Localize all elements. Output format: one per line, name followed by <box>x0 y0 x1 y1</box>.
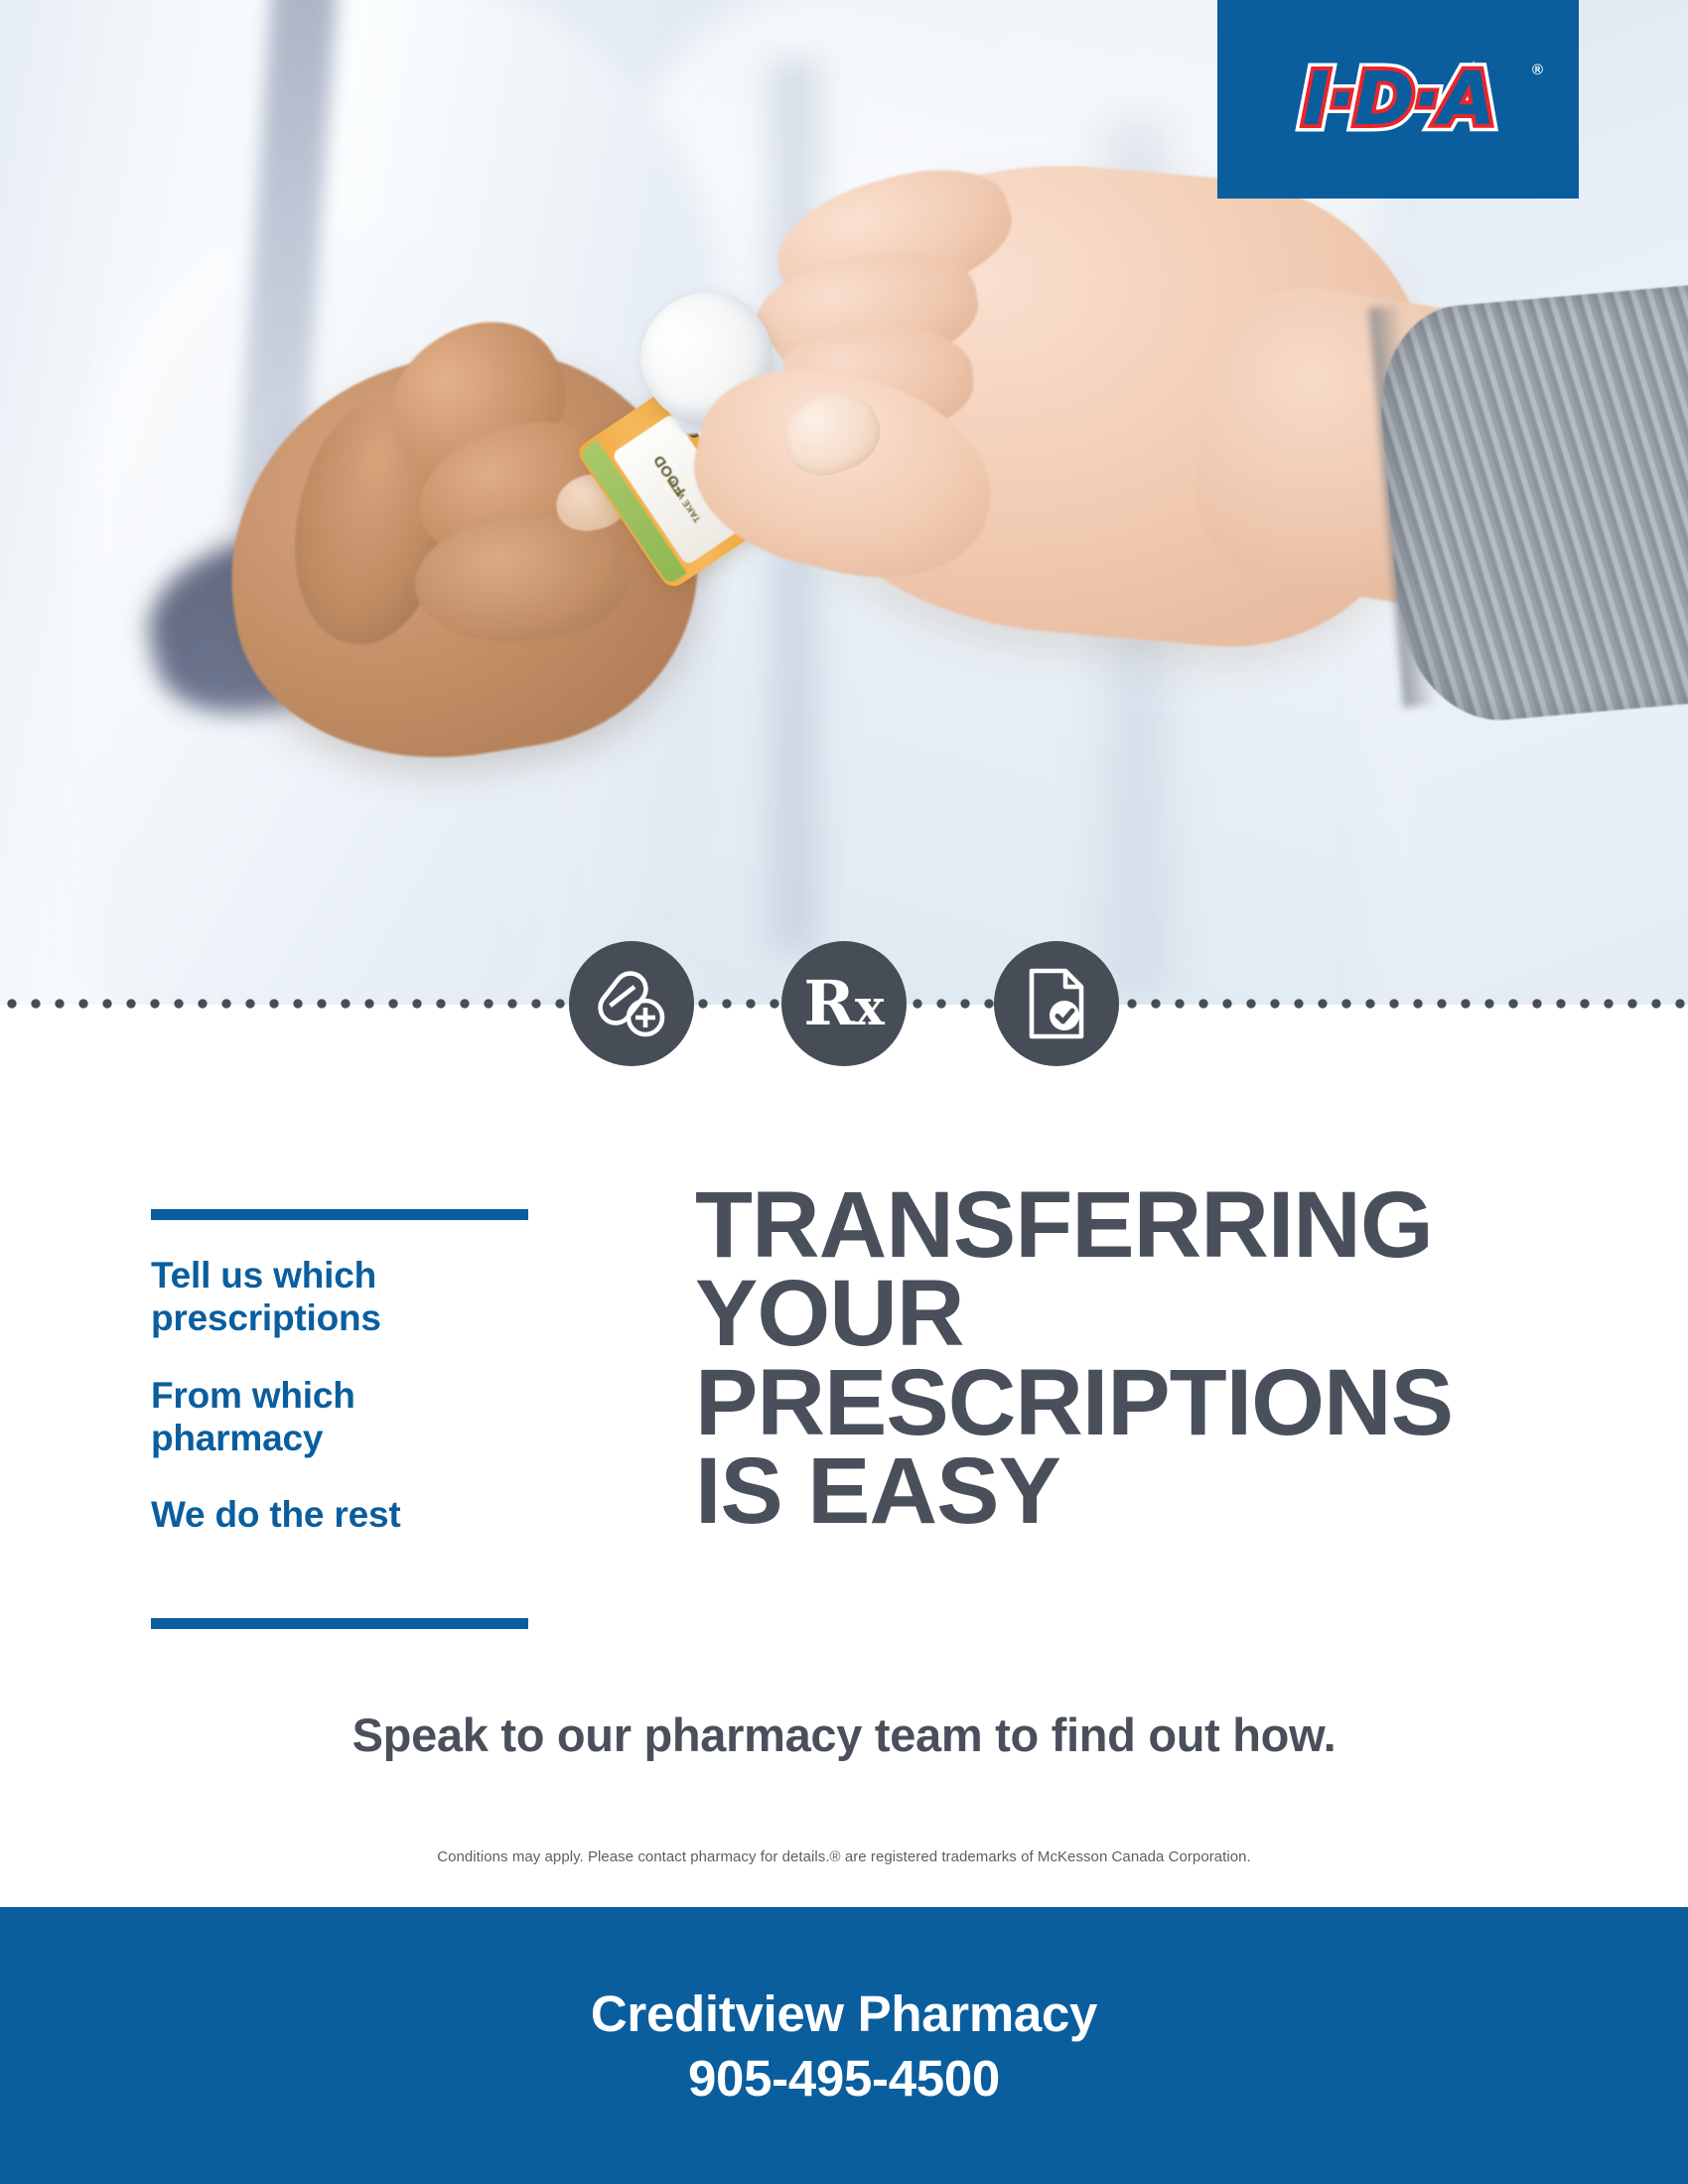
ida-logo[interactable]: I·D·A I·D·A ® <box>1217 0 1579 199</box>
steps-rule-top <box>151 1209 528 1220</box>
pharmacy-name: Creditview Pharmacy <box>591 1984 1097 2043</box>
step-item-3: We do the rest <box>151 1493 528 1536</box>
disclaimer: Conditions may apply. Please contact pha… <box>0 1848 1688 1865</box>
ida-logo-mark: I·D·A I·D·A ® <box>1249 52 1547 147</box>
registered-trademark-icon: ® <box>1532 62 1543 78</box>
pharmacy-phone[interactable]: 905-495-4500 <box>688 2049 1000 2108</box>
ida-logo-text: I·D·A <box>1249 52 1547 147</box>
headline-line-4: IS EASY <box>695 1447 1539 1536</box>
document-check-icon <box>994 941 1119 1066</box>
rx-icon: Rx <box>781 941 907 1066</box>
step-item-1: Tell us which prescriptions <box>151 1254 528 1340</box>
icon-row: Rx <box>0 941 1688 1066</box>
step-item-2: From which pharmacy <box>151 1374 528 1460</box>
footer-bar: Creditview Pharmacy 905-495-4500 <box>0 1907 1688 2184</box>
pills-plus-icon <box>569 941 694 1066</box>
customer-sweater-cuff <box>1372 284 1688 728</box>
rx-glyph: Rx <box>803 973 884 1034</box>
rx-x-glyph: x <box>855 978 885 1036</box>
headline-line-3: PRESCRIPTIONS <box>695 1359 1539 1447</box>
page-title: TRANSFERRING YOUR PRESCRIPTIONS IS EASY <box>695 1181 1539 1536</box>
headline-line-1: TRANSFERRING <box>695 1181 1539 1270</box>
tagline: Speak to our pharmacy team to find out h… <box>0 1707 1688 1762</box>
steps-rule-bottom <box>151 1618 528 1629</box>
steps-list: Tell us which prescriptions From which p… <box>151 1209 528 1536</box>
headline-line-2: YOUR <box>695 1270 1539 1358</box>
